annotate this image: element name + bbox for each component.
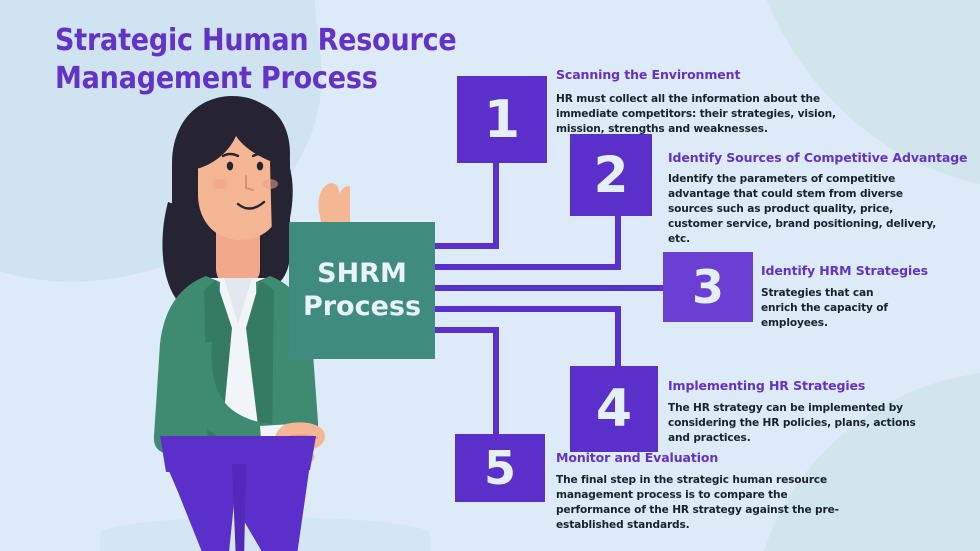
connector-4-horizontal <box>435 306 621 312</box>
connector-1-vertical <box>493 163 499 247</box>
step-number-box-5: 5 <box>455 434 545 502</box>
connector-5-vertical <box>493 327 499 437</box>
step-body-3: Strategies that can enrich the capacity … <box>761 286 911 331</box>
connector-1-horizontal <box>435 243 499 249</box>
step-number-box-2: 2 <box>570 134 652 216</box>
step-number-box-1: 1 <box>457 76 547 163</box>
step-number-4: 4 <box>596 383 632 435</box>
connector-2-horizontal <box>435 264 621 270</box>
step-number-box-4: 4 <box>570 366 658 452</box>
step-number-2: 2 <box>594 150 629 200</box>
step-number-5: 5 <box>484 445 516 491</box>
step-heading-5: Monitor and Evaluation <box>556 450 718 465</box>
shrm-process-box: SHRM Process <box>289 222 435 359</box>
connector-4-vertical <box>615 306 621 368</box>
page-title-line1: Strategic Human Resource <box>55 23 457 58</box>
connector-2-vertical <box>615 215 621 270</box>
step-body-5: The final step in the strategic human re… <box>556 473 856 533</box>
step-number-box-3: 3 <box>663 252 753 322</box>
step-heading-2: Identify Sources of Competitive Advantag… <box>668 150 967 165</box>
step-number-1: 1 <box>484 94 520 146</box>
connector-5-horizontal <box>435 327 499 333</box>
step-body-4: The HR strategy can be implemented by co… <box>668 401 916 446</box>
step-heading-3: Identify HRM Strategies <box>761 263 928 278</box>
step-body-2: Identify the parameters of competitive a… <box>668 172 943 247</box>
shrm-box-line2: Process <box>303 291 421 324</box>
step-heading-4: Implementing HR Strategies <box>668 378 865 393</box>
step-heading-1: Scanning the Environment <box>556 67 740 82</box>
infographic-canvas: Strategic Human Resource Management Proc… <box>0 0 980 551</box>
shrm-box-line1: SHRM <box>317 258 407 291</box>
page-title: Strategic Human Resource Management Proc… <box>55 22 485 99</box>
step-body-1: HR must collect all the information abou… <box>556 92 846 137</box>
connector-3-horizontal <box>435 285 663 291</box>
step-number-3: 3 <box>692 264 724 310</box>
